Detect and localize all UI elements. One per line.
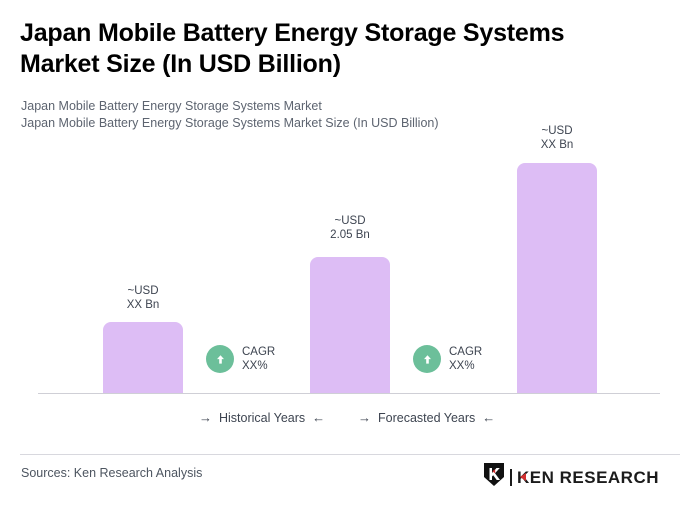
cagr-badge-1[interactable]: CAGR XX%: [206, 345, 275, 373]
bar-value-label-3-line1: ~USD: [517, 124, 597, 138]
bar-current[interactable]: [310, 257, 390, 393]
bar-value-label-3: ~USD XX Bn: [517, 124, 597, 152]
period-label-forecasted-text: Forecasted Years: [378, 411, 475, 425]
arrow-up-icon: [413, 345, 441, 373]
logo-divider: [510, 469, 512, 486]
chart-plot-area: ~USD XX Bn CAGR XX% ~USD 2.05 Bn: [0, 0, 700, 400]
bar-historical[interactable]: [103, 322, 183, 393]
period-label-historical: → Historical Years ←: [199, 410, 325, 425]
footer-divider: [20, 454, 680, 455]
bar-value-label-1-line2: XX Bn: [103, 298, 183, 312]
cagr-text-1: CAGR XX%: [242, 345, 275, 373]
arrow-left-icon: ←: [482, 410, 495, 425]
ken-research-logo: KEN RESEARCH: [483, 462, 659, 492]
arrow-up-icon: [206, 345, 234, 373]
chart-slide: Japan Mobile Battery Energy Storage Syst…: [0, 0, 700, 520]
period-label-historical-text: Historical Years: [219, 411, 305, 425]
arrow-left-icon: ←: [312, 410, 325, 425]
chart-axis-line: [38, 393, 660, 394]
bar-forecasted[interactable]: [517, 163, 597, 393]
period-label-forecasted: → Forecasted Years ←: [358, 410, 495, 425]
logo-text: KEN RESEARCH: [517, 468, 659, 487]
bar-value-label-3-line2: XX Bn: [517, 138, 597, 152]
arrow-right-icon: →: [199, 410, 212, 425]
logo-red-accent: [520, 473, 526, 481]
cagr-value-2: XX%: [449, 359, 482, 373]
cagr-label-1: CAGR: [242, 345, 275, 359]
bar-value-label-2-line1: ~USD: [310, 214, 390, 228]
arrow-right-icon: →: [358, 410, 371, 425]
bar-value-label-1-line1: ~USD: [103, 284, 183, 298]
cagr-label-2: CAGR: [449, 345, 482, 359]
bar-value-label-2-line2: 2.05 Bn: [310, 228, 390, 242]
bar-value-label-2: ~USD 2.05 Bn: [310, 214, 390, 242]
cagr-text-2: CAGR XX%: [449, 345, 482, 373]
sources-text: Sources: Ken Research Analysis: [21, 466, 202, 480]
cagr-value-1: XX%: [242, 359, 275, 373]
bar-value-label-1: ~USD XX Bn: [103, 284, 183, 312]
ken-research-shield-icon: [483, 462, 505, 492]
cagr-badge-2[interactable]: CAGR XX%: [413, 345, 482, 373]
ken-research-wordmark: KEN RESEARCH: [517, 469, 659, 486]
